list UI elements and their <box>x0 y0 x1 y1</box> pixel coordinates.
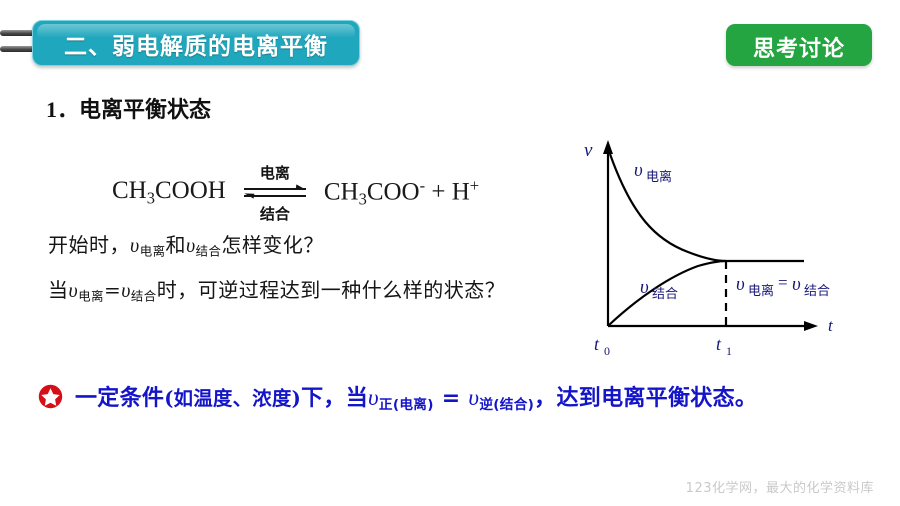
chemical-equation: CH3COOH 电离 结合 CH3COO- + H+ <box>112 162 479 224</box>
q2-suffix: 时，可逆过程达到一种什么样的状态？ <box>157 278 506 302</box>
x-tick-t0-subscript: 0 <box>604 344 610 358</box>
arrow-top-label: 电离 <box>242 162 308 183</box>
question-line-1: 开始时，υ电离和υ结合怎样变化？ <box>48 229 324 259</box>
conclusion-v2-subscript: 逆(结合) <box>479 397 534 413</box>
conclusion-v1: υ <box>368 384 379 410</box>
q1-mid: 和 <box>165 233 186 257</box>
chart-svg: v t t 0 t 1 υ 电离 υ 结合 υ 电离 = υ 结合 <box>560 128 890 360</box>
red-star-icon <box>38 384 63 409</box>
product-rest: COO <box>367 178 420 205</box>
conclusion-v2: υ <box>468 384 479 410</box>
conclusion-paren: (如温度、浓度) <box>164 387 301 410</box>
conclusion-part4: 达到电离平衡状态。 <box>556 386 757 411</box>
equilibrium-annotation-v1-subscript: 电离 <box>748 283 774 298</box>
equilibrium-annotation-v1: υ <box>736 274 745 295</box>
conclusion-text: 一定条件(如温度、浓度)下，当υ正(电离) = υ逆(结合)，达到电离平衡状态。 <box>75 380 757 413</box>
slide-canvas: 二、弱电解质的电离平衡 思考讨论 1．电离平衡状态 CH3COOH 电离 结合 … <box>0 0 900 506</box>
reactant-rest: COOH <box>155 177 226 204</box>
product-plus-hydrogen: + H <box>431 178 469 205</box>
section-heading-label: 电离平衡状态 <box>79 98 211 123</box>
discuss-badge: 思考讨论 <box>726 24 872 66</box>
series-label-ionization: υ <box>634 160 643 181</box>
q2-v1-subscript: 电离 <box>78 288 104 303</box>
conclusion-part1: 一定条件 <box>75 386 164 411</box>
arrow-head-left-icon <box>244 192 255 198</box>
q2-v2-subscript: 结合 <box>131 288 157 303</box>
q2-mid: = <box>104 278 121 302</box>
q1-v1-subscript: 电离 <box>140 243 166 258</box>
q2-v2: υ <box>121 280 131 302</box>
arrow-bottom-label: 结合 <box>242 203 308 224</box>
y-axis-label: v <box>584 140 593 161</box>
q1-v2: υ <box>186 235 196 257</box>
hydrogen-charge: + <box>470 176 479 195</box>
equation-products: CH3COO- + H+ <box>324 176 479 210</box>
x-axis-arrowhead-icon <box>804 321 818 331</box>
q1-v1: υ <box>130 235 140 257</box>
x-tick-t1: t <box>716 334 722 354</box>
discuss-badge-text: 思考讨论 <box>726 31 872 63</box>
x-axis-label: t <box>828 316 834 335</box>
reactant-formula: CH <box>112 177 147 204</box>
q1-v2-subscript: 结合 <box>196 243 222 258</box>
conclusion-v1-subscript: 正(电离) <box>379 397 434 413</box>
rate-vs-time-chart: v t t 0 t 1 υ 电离 υ 结合 υ 电离 = υ 结合 <box>560 128 890 360</box>
conclusion-equals: = <box>442 386 461 411</box>
conclusion-part2: 下，当 <box>301 386 368 411</box>
footer-watermark: 123化学网，最大的化学资料库 <box>686 477 874 496</box>
conclusion-line: 一定条件(如温度、浓度)下，当υ正(电离) = υ逆(结合)，达到电离平衡状态。 <box>38 380 757 413</box>
q1-suffix: 怎样变化？ <box>221 233 324 257</box>
q1-prefix: 开始时， <box>48 233 130 257</box>
equilibrium-annotation-equals: = <box>778 273 788 292</box>
x-tick-t1-subscript: 1 <box>726 344 732 358</box>
product-formula: CH <box>324 178 359 205</box>
question-line-2: 当υ电离=υ结合时，可逆过程达到一种什么样的状态？ <box>48 274 505 304</box>
product-subscript: 3 <box>359 190 367 209</box>
section-heading: 1．电离平衡状态 <box>46 92 211 124</box>
q2-prefix: 当 <box>48 278 69 302</box>
series-label-combination: υ <box>640 277 649 298</box>
reversible-arrow-icon: 电离 结合 <box>242 162 308 224</box>
conclusion-part3: ， <box>534 386 556 411</box>
q2-v1: υ <box>69 280 79 302</box>
product-charge: - <box>420 176 426 195</box>
section-heading-number: 1． <box>46 97 79 122</box>
y-axis-arrowhead-icon <box>603 140 613 154</box>
equation-reactant: CH3COOH <box>112 177 226 208</box>
x-tick-t0: t <box>594 334 600 354</box>
reactant-subscript: 3 <box>147 189 155 208</box>
equilibrium-annotation-v2: υ <box>792 274 801 295</box>
series-label-ionization-subscript: 电离 <box>646 169 672 184</box>
equilibrium-annotation-v2-subscript: 结合 <box>804 283 830 298</box>
title-banner: 二、弱电解质的电离平衡 <box>32 20 360 66</box>
arrow-bars <box>244 188 306 200</box>
series-label-combination-subscript: 结合 <box>652 286 678 301</box>
title-banner-text: 二、弱电解质的电离平衡 <box>33 27 359 61</box>
